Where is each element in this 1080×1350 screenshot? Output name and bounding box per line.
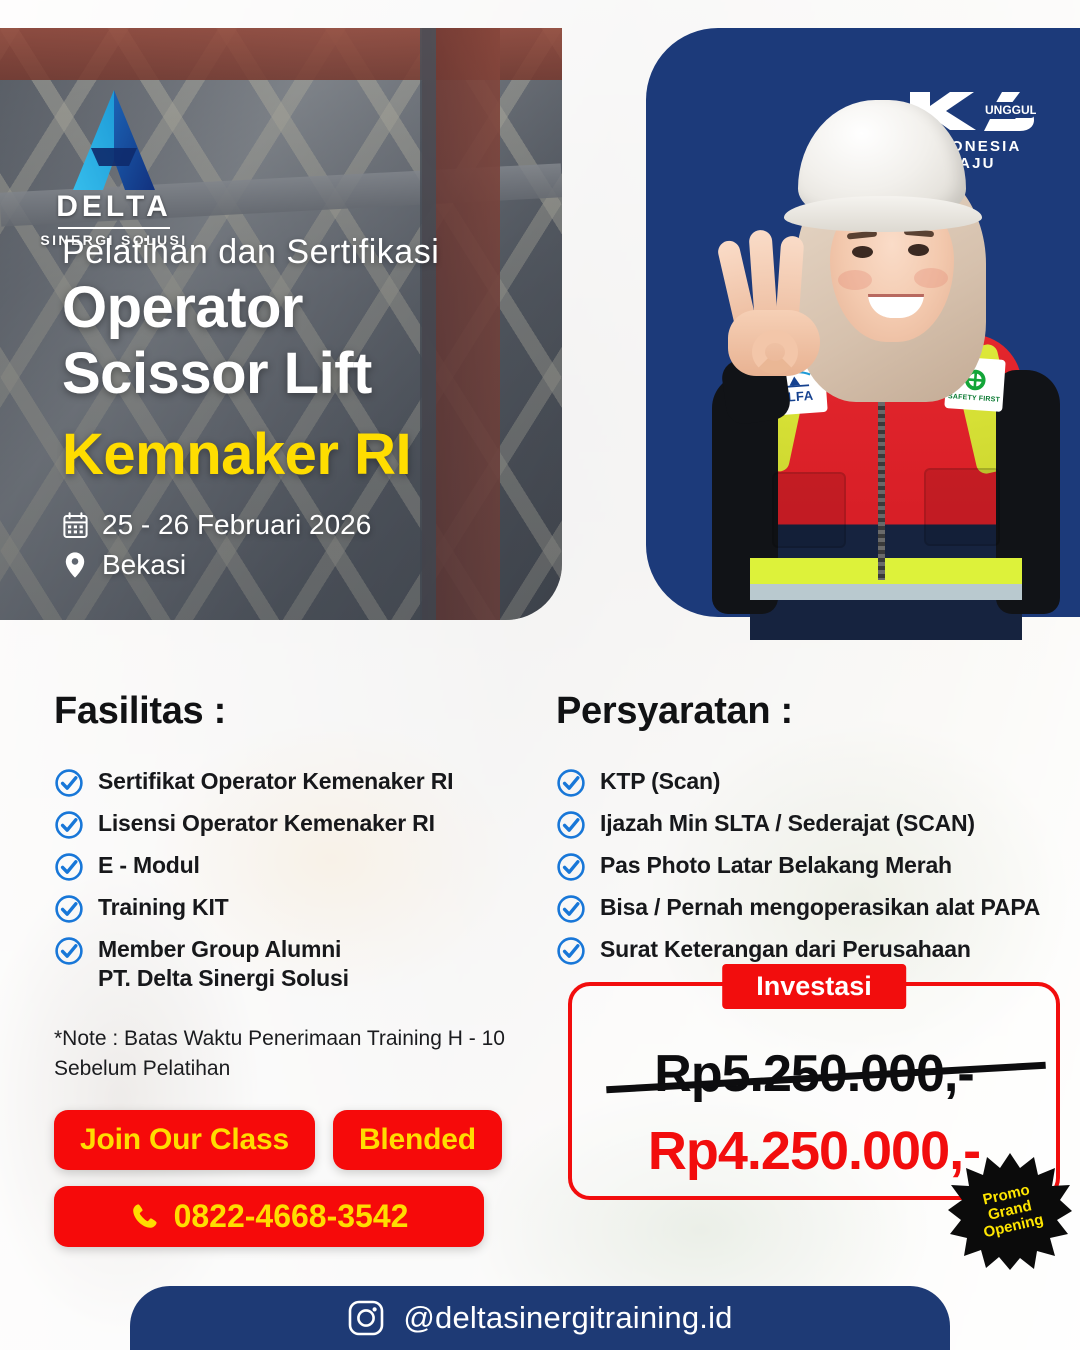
investment-tag: Investasi bbox=[722, 964, 906, 1009]
hero-kicker: Pelatihan dan Sertifikasi bbox=[62, 233, 532, 272]
cta-button-row: Join Our Class Blended bbox=[54, 1110, 554, 1170]
requirement-label: Ijazah Min SLTA / Sederajat (SCAN) bbox=[600, 809, 975, 838]
hero-meta: 25 - 26 Februari 2026 Bekasi bbox=[62, 509, 532, 581]
facility-label: E - Modul bbox=[98, 851, 200, 880]
facilities-heading: Fasilitas : bbox=[54, 690, 554, 733]
list-item: Lisensi Operator Kemenaker RI bbox=[54, 809, 554, 840]
safety-badge-label: SAFETY FIRST bbox=[948, 393, 1000, 404]
person-eye-right bbox=[908, 244, 929, 256]
requirements-heading: Persyaratan : bbox=[556, 690, 1056, 733]
person-cheek-left bbox=[838, 270, 872, 290]
facilities-list: Sertifikat Operator Kemenaker RI Lisensi… bbox=[54, 767, 554, 994]
hero-title-line2: Scissor Lift bbox=[62, 344, 532, 404]
check-icon bbox=[54, 894, 84, 924]
phone-number: 0822-4668-3542 bbox=[174, 1198, 409, 1235]
requirements-column: Persyaratan : KTP (Scan) bbox=[556, 690, 1056, 977]
list-item: E - Modul bbox=[54, 851, 554, 882]
check-icon bbox=[54, 936, 84, 966]
facility-label: Lisensi Operator Kemenaker RI bbox=[98, 809, 435, 838]
price-original: Rp5.250.000,- bbox=[572, 1044, 1056, 1104]
facility-label: Training KIT bbox=[98, 893, 229, 922]
requirement-label: Surat Keterangan dari Perusahaan bbox=[600, 935, 971, 964]
vest-hiviz-band bbox=[750, 558, 1022, 584]
hero-highlight: Kemnaker RI bbox=[62, 425, 532, 485]
list-item: Pas Photo Latar Belakang Merah bbox=[556, 851, 1056, 882]
instagram-handle[interactable]: @deltasinergitraining.id bbox=[403, 1300, 732, 1336]
hero-location-row: Bekasi bbox=[62, 549, 532, 581]
instructor-photo: ALFA SAFETY FIRST bbox=[646, 58, 1080, 640]
hero-text-block: Pelatihan dan Sertifikasi Operator Sciss… bbox=[62, 233, 532, 589]
check-icon bbox=[556, 936, 586, 966]
person-eye-left bbox=[852, 246, 873, 258]
list-item: Bisa / Pernah mengoperasikan alat PAPA bbox=[556, 893, 1056, 924]
requirement-label: KTP (Scan) bbox=[600, 767, 720, 796]
check-icon bbox=[54, 810, 84, 840]
vest-reflective-band bbox=[750, 584, 1022, 600]
hero-title-line1: Operator bbox=[62, 278, 532, 338]
join-our-class-button[interactable]: Join Our Class bbox=[54, 1110, 315, 1170]
instagram-icon[interactable] bbox=[347, 1299, 385, 1337]
vest-pocket-left bbox=[772, 472, 846, 548]
check-icon bbox=[54, 852, 84, 882]
list-item: Sertifikat Operator Kemenaker RI bbox=[54, 767, 554, 798]
list-item: KTP (Scan) bbox=[556, 767, 1056, 798]
blended-button[interactable]: Blended bbox=[333, 1110, 502, 1170]
hero-location: Bekasi bbox=[102, 549, 186, 581]
vest-pocket-right bbox=[924, 468, 1000, 546]
check-icon bbox=[556, 894, 586, 924]
check-icon bbox=[556, 810, 586, 840]
delta-triangle-icon bbox=[55, 86, 173, 196]
facility-label-line2: PT. Delta Sinergi Solusi bbox=[98, 964, 349, 993]
facilities-column: Fasilitas : Sertifikat Operator Kemenake… bbox=[54, 690, 554, 1247]
check-icon bbox=[54, 768, 84, 798]
hero-image-panel: DELTA SINERGI SOLUSI Pelatihan dan Serti… bbox=[0, 28, 562, 620]
list-item: Surat Keterangan dari Perusahaan bbox=[556, 935, 1056, 966]
facility-label: Sertifikat Operator Kemenaker RI bbox=[98, 767, 453, 796]
phone-icon bbox=[130, 1201, 160, 1231]
map-pin-icon bbox=[62, 550, 88, 580]
ok-ring bbox=[752, 330, 798, 374]
requirement-label: Bisa / Pernah mengoperasikan alat PAPA bbox=[600, 893, 1040, 922]
list-item: Training KIT bbox=[54, 893, 554, 924]
check-icon bbox=[556, 768, 586, 798]
facility-label: Member Group Alumni bbox=[98, 936, 341, 962]
requirements-list: KTP (Scan) Ijazah Min SLTA / Sederajat (… bbox=[556, 767, 1056, 966]
footer-bar: @deltasinergitraining.id bbox=[130, 1286, 950, 1350]
hero-date: 25 - 26 Februari 2026 bbox=[102, 509, 371, 541]
ok-hand-gesture bbox=[718, 226, 836, 376]
calendar-icon bbox=[62, 510, 88, 540]
phone-button[interactable]: 0822-4668-3542 bbox=[54, 1186, 484, 1247]
facilities-note: *Note : Batas Waktu Penerimaan Training … bbox=[54, 1024, 554, 1084]
requirement-label: Pas Photo Latar Belakang Merah bbox=[600, 851, 952, 880]
promo-starburst: Promo Grand Opening bbox=[948, 1152, 1072, 1270]
person-cheek-right bbox=[914, 268, 948, 288]
list-item: Member Group Alumni PT. Delta Sinergi So… bbox=[54, 935, 554, 994]
delta-logo: DELTA SINERGI SOLUSI bbox=[38, 86, 190, 248]
check-icon bbox=[556, 852, 586, 882]
promo-poster: DELTA SINERGI SOLUSI Pelatihan dan Serti… bbox=[0, 0, 1080, 1350]
list-item: Ijazah Min SLTA / Sederajat (SCAN) bbox=[556, 809, 1056, 840]
hero-date-row: 25 - 26 Februari 2026 bbox=[62, 509, 532, 541]
delta-divider bbox=[58, 227, 170, 229]
